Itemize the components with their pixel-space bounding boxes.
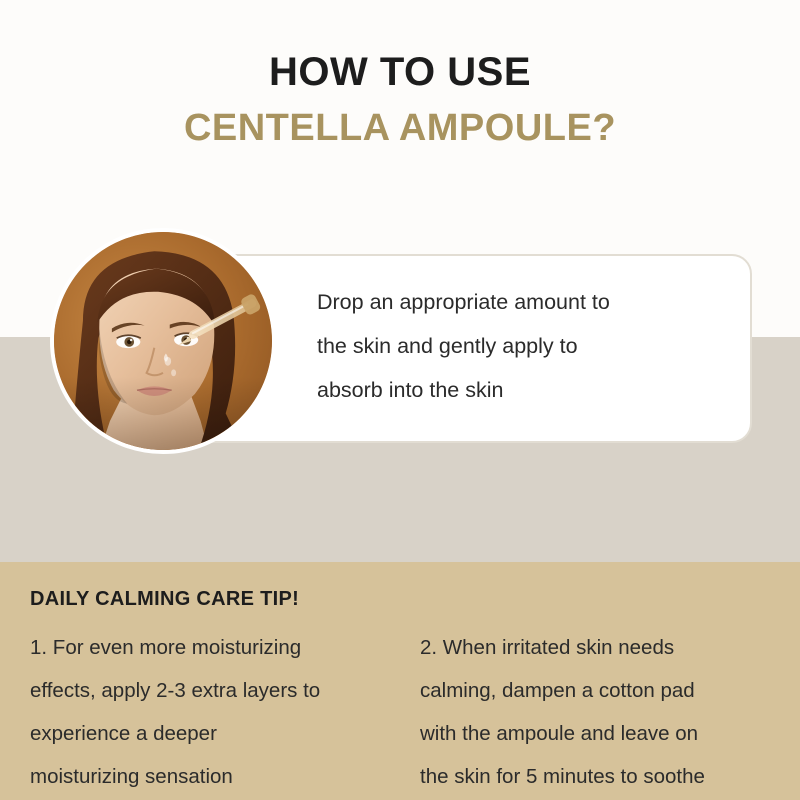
- page-title: HOW TO USE CENTELLA AMPOULE?: [0, 48, 800, 152]
- tip-line: calming, dampen a cotton pad: [420, 669, 800, 712]
- instruction-line: Drop an appropriate amount to: [317, 280, 737, 324]
- tip-line: 2. When irritated skin needs: [420, 626, 800, 669]
- instruction-line: absorb into the skin: [317, 368, 737, 412]
- title-line-primary: HOW TO USE: [0, 48, 800, 96]
- face-with-dropper-illustration: [54, 232, 272, 450]
- face-with-dropper-icon: [54, 232, 272, 450]
- tips-heading: DAILY CALMING CARE TIP!: [30, 588, 299, 611]
- tip-item-1: 1. For even more moisturizing effects, a…: [30, 626, 410, 798]
- tip-line: moisturizing sensation: [30, 755, 410, 798]
- tip-line: 1. For even more moisturizing: [30, 626, 410, 669]
- model-photo-circle: [50, 228, 276, 454]
- instruction-line: the skin and gently apply to: [317, 324, 737, 368]
- instruction-text: Drop an appropriate amount to the skin a…: [317, 280, 737, 412]
- tip-item-2: 2. When irritated skin needs calming, da…: [420, 626, 800, 798]
- tip-line: effects, apply 2-3 extra layers to: [30, 669, 410, 712]
- title-line-accent: CENTELLA AMPOULE?: [0, 104, 800, 152]
- tip-line: experience a deeper: [30, 712, 410, 755]
- infographic-page: HOW TO USE CENTELLA AMPOULE? Drop an app…: [0, 0, 800, 800]
- tip-line: with the ampoule and leave on: [420, 712, 800, 755]
- tip-line: the skin for 5 minutes to soothe: [420, 755, 800, 798]
